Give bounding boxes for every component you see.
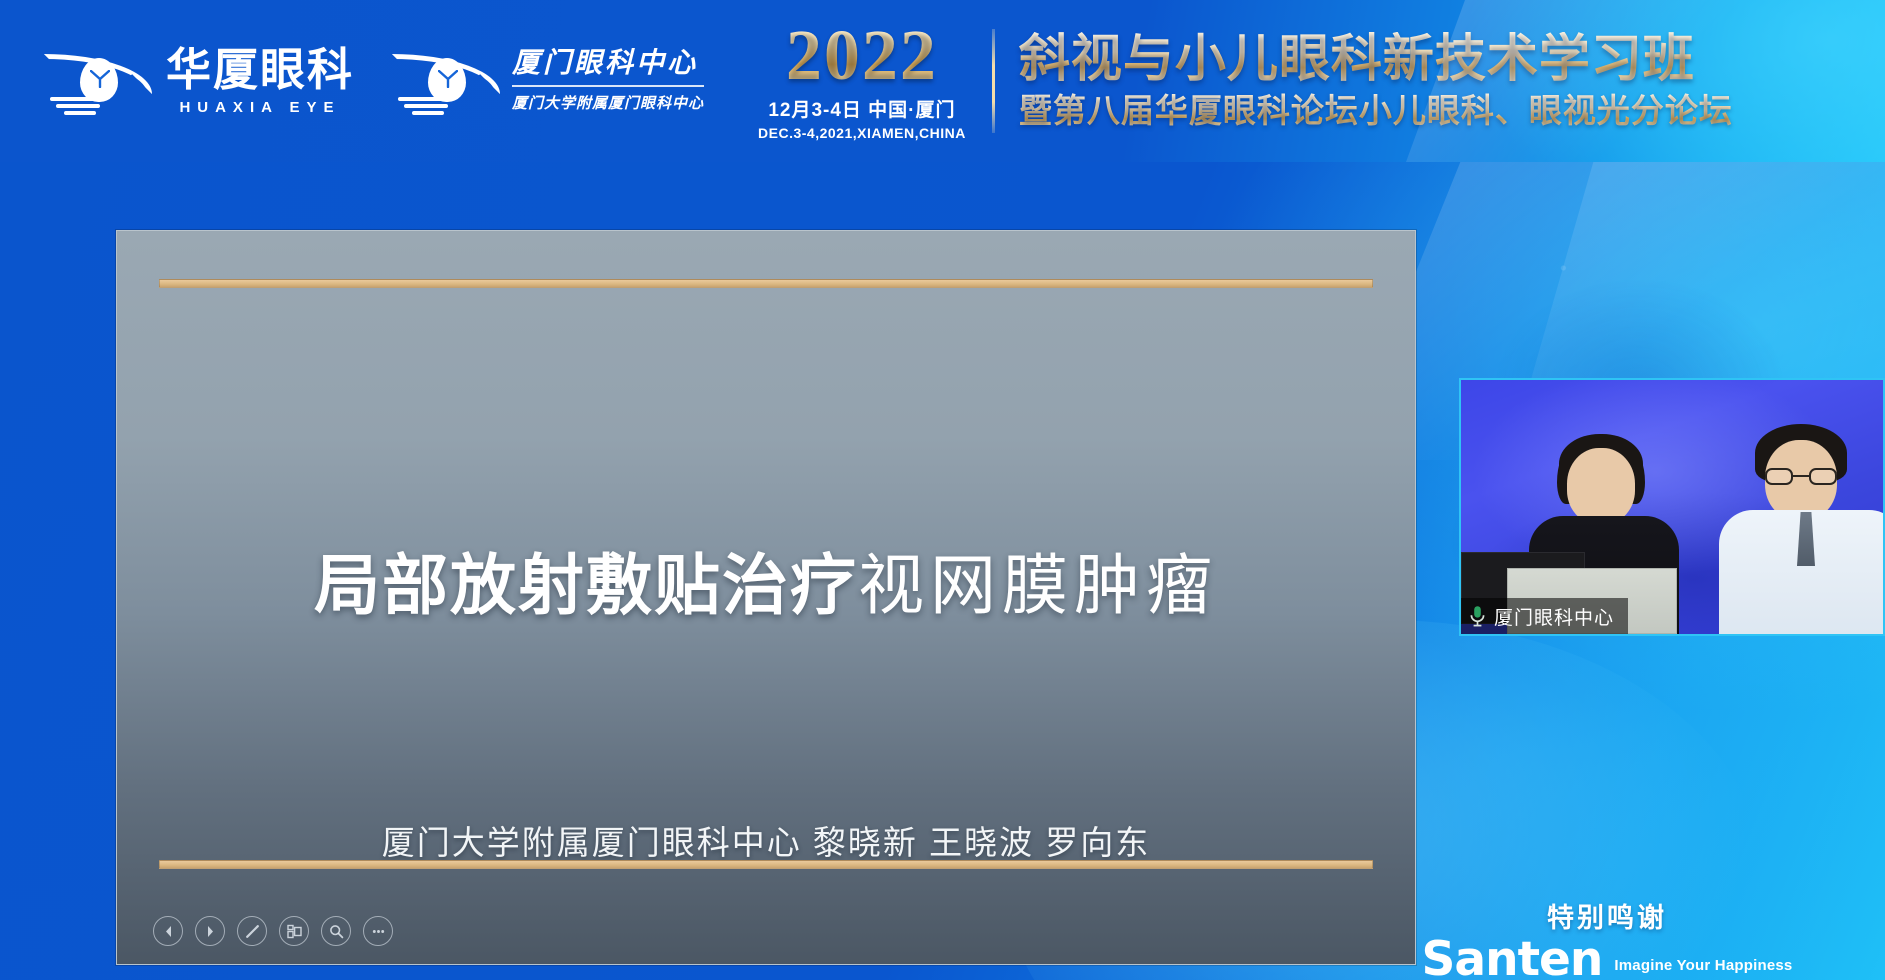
conference-title-block: 斜视与小儿眼科新技术学习班 暨第八届华厦眼科论坛小儿眼科、眼视光分论坛 <box>1019 32 1733 129</box>
participant-name-badge: 厦门眼科中心 <box>1461 598 1628 634</box>
header-vertical-divider <box>992 29 995 133</box>
slide-toolbar <box>153 916 393 946</box>
bird-mark-icon <box>438 70 458 88</box>
sponsor-logo: Santen Imagine Your Happiness <box>1417 941 1797 980</box>
slide-title-light: 视网膜肿瘤 <box>858 548 1218 622</box>
presentation-slide[interactable]: 局部放射敷贴治疗视网膜肿瘤 厦门大学附属厦门眼科中心 黎晓新 王晓波 罗向东 <box>116 230 1416 965</box>
slide-authors: 厦门大学附属厦门眼科中心 黎晓新 王晓波 罗向东 <box>117 816 1415 864</box>
zoom-button[interactable] <box>321 916 351 946</box>
slide-rule-bottom <box>159 860 1373 869</box>
slide-title: 局部放射敷贴治疗视网膜肿瘤 <box>117 548 1415 624</box>
glasses-icon <box>1765 468 1837 485</box>
conference-title: 斜视与小儿眼科新技术学习班 <box>1019 32 1733 86</box>
sponsor-tagline: Imagine Your Happiness <box>1614 957 1792 980</box>
sponsor-name: Santen <box>1422 941 1603 980</box>
next-slide-button[interactable] <box>195 916 225 946</box>
magnifier-icon <box>328 923 345 940</box>
logo-xmec-name-cn: 厦门眼科中心 <box>512 49 704 80</box>
chevron-right-icon <box>204 925 217 938</box>
logo-huaxia-name-en: HUAXIA EYE <box>166 99 354 116</box>
logo-divider <box>512 85 704 87</box>
conference-header-banner: 华厦眼科 HUAXIA EYE 厦门眼科中心 厦门大学附属厦门眼科中心 2022… <box>0 0 1885 162</box>
webinar-viewer: 华厦眼科 HUAXIA EYE 厦门眼科中心 厦门大学附属厦门眼科中心 2022… <box>0 0 1885 980</box>
slide-title-strong: 局部放射敷贴治疗 <box>314 548 858 622</box>
eye-logo-icon <box>392 50 500 112</box>
mic-on-icon <box>1469 605 1486 627</box>
conference-subtitle: 暨第八届华厦眼科论坛小儿眼科、眼视光分论坛 <box>1019 93 1733 129</box>
pen-icon <box>244 923 261 940</box>
ellipsis-icon <box>370 923 387 940</box>
speaker-avatar-right <box>1723 424 1885 634</box>
logo-huaxia-eye: 华厦眼科 HUAXIA EYE <box>44 47 354 116</box>
eye-logo-icon <box>44 50 152 112</box>
previous-slide-button[interactable] <box>153 916 183 946</box>
logo-xmec-sub-cn: 厦门大学附属厦门眼科中心 <box>512 92 704 113</box>
more-options-button[interactable] <box>363 916 393 946</box>
conference-date-cn: 12月3-4日 中国·厦门 <box>758 95 966 122</box>
grid-layers-icon <box>286 923 303 940</box>
speaker-video-panel[interactable]: 厦门眼科中心 <box>1459 378 1885 636</box>
sponsor-thanks-label: 特别鸣谢 <box>1417 896 1797 935</box>
conference-year-block: 2022 12月3-4日 中国·厦门 DEC.3-4,2021,XIAMEN,C… <box>758 21 966 140</box>
conference-year: 2022 <box>758 21 966 90</box>
conference-date-en: DEC.3-4,2021,XIAMEN,CHINA <box>758 125 966 141</box>
chevron-left-icon <box>162 925 175 938</box>
logo-huaxia-name-cn: 华厦眼科 <box>166 47 354 92</box>
slide-rule-top <box>159 279 1373 288</box>
participant-name: 厦门眼科中心 <box>1494 603 1614 630</box>
bird-mark-icon <box>90 70 110 88</box>
sponsor-block: 特别鸣谢 Santen Imagine Your Happiness <box>1417 896 1797 980</box>
slide-thumbnails-button[interactable] <box>279 916 309 946</box>
annotate-button[interactable] <box>237 916 267 946</box>
logo-xiamen-eye-center: 厦门眼科中心 厦门大学附属厦门眼科中心 <box>392 49 704 113</box>
